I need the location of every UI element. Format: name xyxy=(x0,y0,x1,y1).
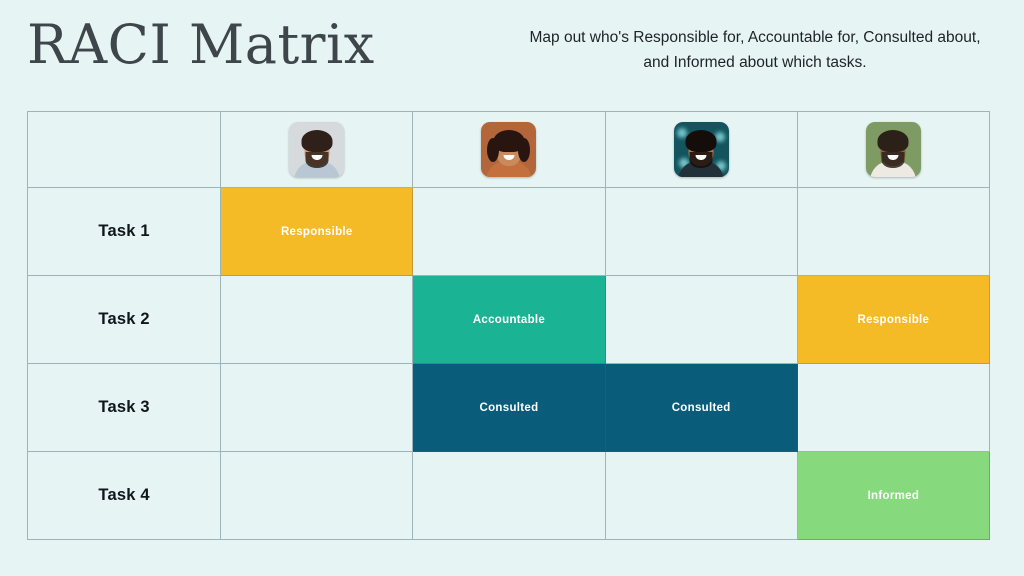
table-row: Task 1Responsible xyxy=(28,188,990,276)
raci-cell-r1-c4[interactable] xyxy=(797,188,989,276)
page-header: RACI Matrix Map out who's Responsible fo… xyxy=(0,0,1024,111)
avatar-person-2[interactable] xyxy=(481,122,536,177)
raci-cell-fill xyxy=(606,188,797,275)
raci-cell-r4-c4[interactable]: Informed xyxy=(797,452,989,540)
raci-cell-fill xyxy=(798,364,989,451)
raci-cell-r2-c2[interactable]: Accountable xyxy=(413,276,605,364)
owner-header-cell-4[interactable] xyxy=(797,112,989,188)
raci-cell-fill: Accountable xyxy=(413,276,604,363)
raci-cell-r2-c3[interactable] xyxy=(605,276,797,364)
avatar-wrap xyxy=(221,112,412,187)
raci-cell-r2-c1[interactable] xyxy=(221,276,413,364)
raci-cell-r4-c3[interactable] xyxy=(605,452,797,540)
raci-role-label: Accountable xyxy=(473,314,545,326)
task-label: Task 1 xyxy=(98,222,149,240)
task-label: Task 2 xyxy=(98,310,149,328)
raci-cell-fill xyxy=(606,276,797,363)
avatar-person-4[interactable] xyxy=(866,122,921,177)
raci-cell-fill xyxy=(221,452,412,539)
matrix-header-row xyxy=(28,112,990,188)
matrix-corner-cell xyxy=(28,112,221,188)
raci-role-label: Consulted xyxy=(480,402,539,414)
raci-cell-r4-c2[interactable] xyxy=(413,452,605,540)
raci-cell-r3-c4[interactable] xyxy=(797,364,989,452)
avatar-wrap xyxy=(798,112,989,187)
page-title: RACI Matrix xyxy=(27,9,375,81)
raci-cell-r3-c1[interactable] xyxy=(221,364,413,452)
task-label-cell[interactable]: Task 1 xyxy=(28,188,221,276)
raci-cell-fill xyxy=(413,188,604,275)
raci-cell-r1-c2[interactable] xyxy=(413,188,605,276)
raci-cell-fill: Informed xyxy=(798,452,989,539)
task-label: Task 3 xyxy=(98,398,149,416)
avatar-person-3[interactable] xyxy=(674,122,729,177)
raci-cell-r1-c1[interactable]: Responsible xyxy=(221,188,413,276)
owner-header-cell-1[interactable] xyxy=(221,112,413,188)
task-label-cell[interactable]: Task 3 xyxy=(28,364,221,452)
raci-cell-fill xyxy=(606,452,797,539)
raci-cell-fill xyxy=(798,188,989,275)
table-row: Task 2AccountableResponsible xyxy=(28,276,990,364)
owner-header-cell-2[interactable] xyxy=(413,112,605,188)
raci-cell-fill: Consulted xyxy=(413,364,604,451)
table-row: Task 4Informed xyxy=(28,452,990,540)
raci-role-label: Responsible xyxy=(858,314,930,326)
raci-cell-fill xyxy=(221,364,412,451)
avatar-wrap xyxy=(606,112,797,187)
raci-cell-fill: Consulted xyxy=(606,364,797,451)
raci-cell-r3-c2[interactable]: Consulted xyxy=(413,364,605,452)
raci-role-label: Consulted xyxy=(672,402,731,414)
raci-role-label: Responsible xyxy=(281,226,353,238)
raci-cell-fill xyxy=(413,452,604,539)
raci-cell-r2-c4[interactable]: Responsible xyxy=(797,276,989,364)
raci-cell-r3-c3[interactable]: Consulted xyxy=(605,364,797,452)
page-subtitle: Map out who's Responsible for, Accountab… xyxy=(520,25,990,75)
raci-cell-fill: Responsible xyxy=(221,188,412,275)
raci-cell-r4-c1[interactable] xyxy=(221,452,413,540)
raci-cell-fill xyxy=(221,276,412,363)
avatar-person-1[interactable] xyxy=(289,122,344,177)
table-row: Task 3ConsultedConsulted xyxy=(28,364,990,452)
avatar-wrap xyxy=(413,112,604,187)
raci-role-label: Informed xyxy=(868,490,920,502)
task-label: Task 4 xyxy=(98,486,149,504)
raci-cell-r1-c3[interactable] xyxy=(605,188,797,276)
raci-cell-fill: Responsible xyxy=(798,276,989,363)
task-label-cell[interactable]: Task 4 xyxy=(28,452,221,540)
owner-header-cell-3[interactable] xyxy=(605,112,797,188)
raci-matrix-table: Task 1ResponsibleTask 2AccountableRespon… xyxy=(27,111,990,540)
task-label-cell[interactable]: Task 2 xyxy=(28,276,221,364)
